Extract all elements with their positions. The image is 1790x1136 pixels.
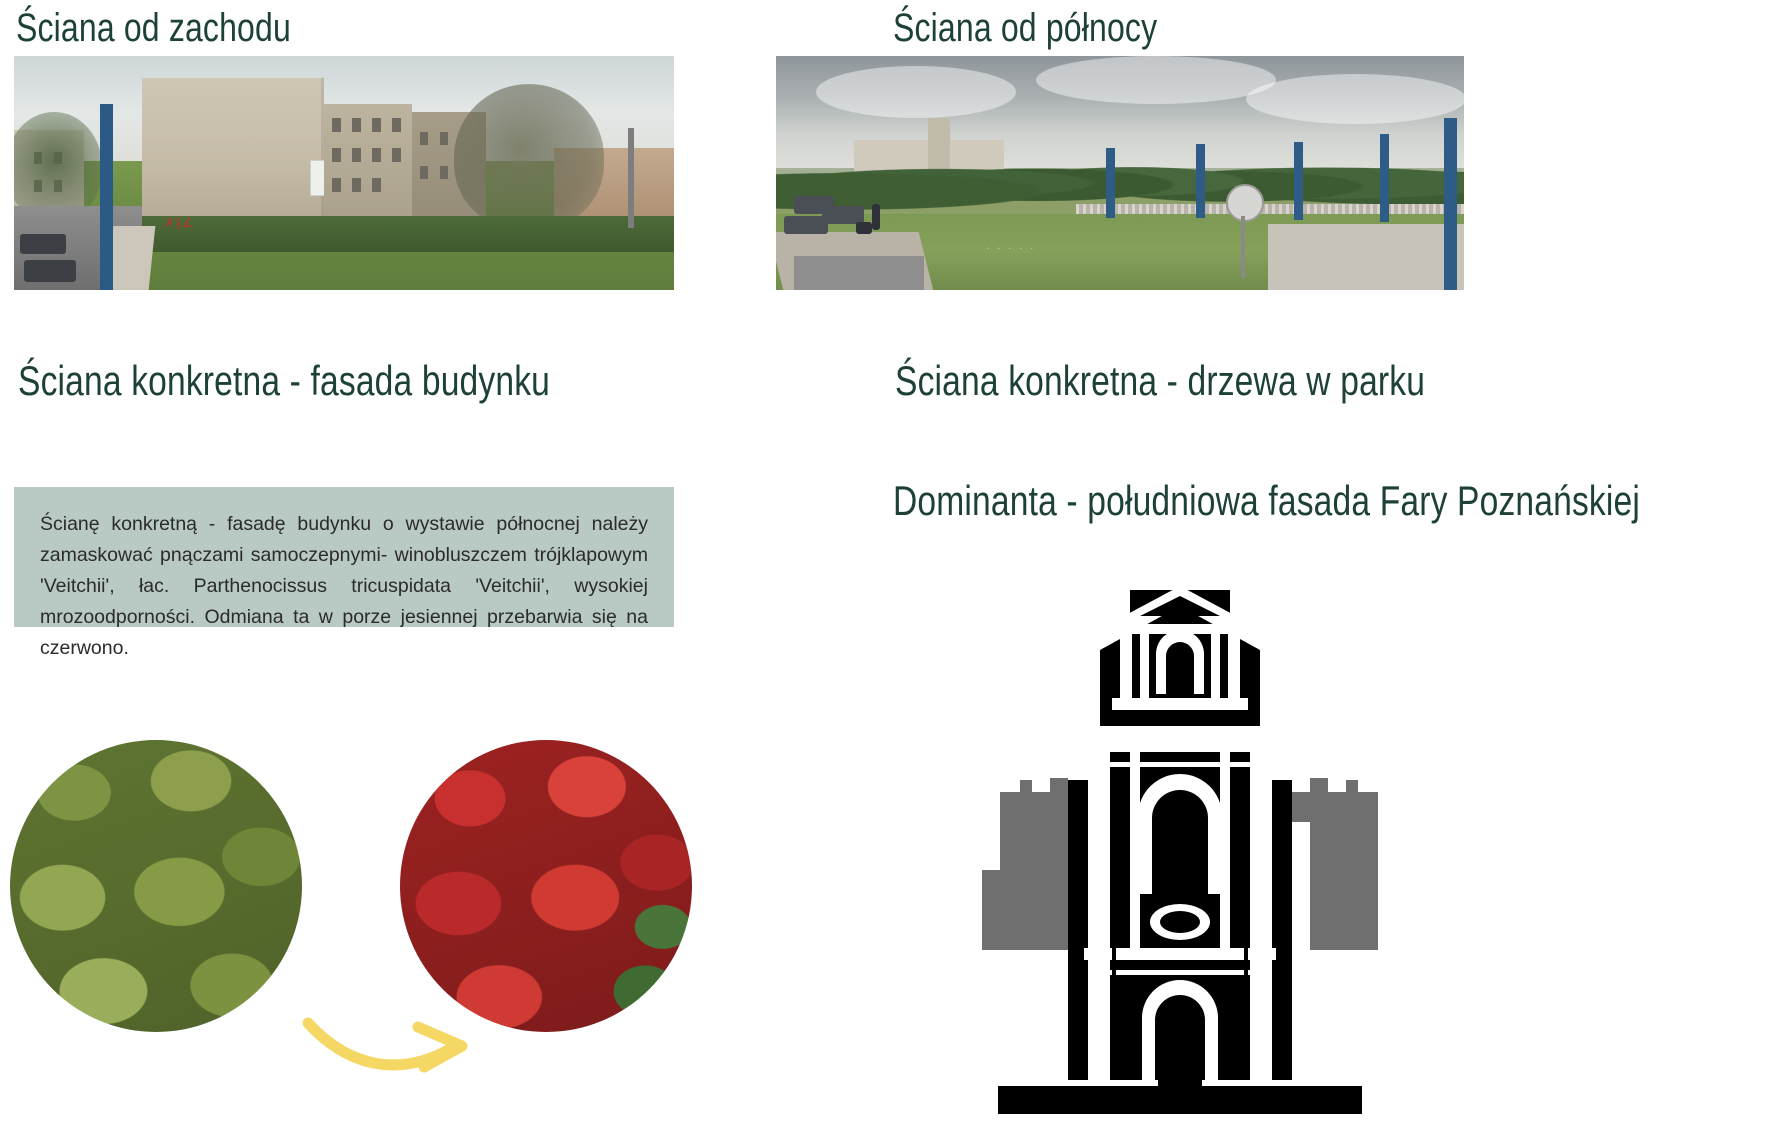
graffiti-tag: ✗∤∠ [164,216,210,232]
fara-poznanska-facade [980,530,1380,1130]
poster-page: Ściana od zachodu [0,0,1790,1136]
window [372,178,381,192]
curved-arrow-icon [300,1005,480,1085]
window [440,132,448,145]
sidewalk [107,226,156,290]
window [352,148,361,162]
parked-car [20,234,66,254]
blue-lamp-post [1196,144,1205,218]
window [372,148,381,162]
pavement-right [1268,224,1464,290]
window [332,148,341,162]
round-road-sign [1226,184,1264,222]
blue-lamp-post [1294,142,1303,220]
caption-west-wall: Ściana konkretna - fasada budynku [18,357,550,405]
window [392,148,401,162]
pedestrian-with-pram [856,222,872,234]
leaf-photo-green [10,740,302,1032]
page-title-north: Ściana od północy [893,6,1157,51]
photo-watermark: · · · · · [986,242,1035,255]
west-wall-photo: ✗∤∠ [14,56,674,290]
cloud [1246,74,1464,124]
window [352,118,361,132]
sign-post [1241,216,1245,278]
heading-dominant: Dominanta - południowa fasada Fary Pozna… [893,477,1640,525]
window [420,166,428,179]
blue-lamp-post [1444,118,1457,290]
page-title-west: Ściana od zachodu [16,6,291,51]
window [420,132,428,145]
window [352,178,361,192]
caption-north-wall: Ściana konkretna - drzewa w parku [895,357,1425,405]
description-panel: Ścianę konkretną - fasadę budynku o wyst… [14,487,674,627]
blue-lamp-post [1380,134,1389,222]
north-wall-photo: · · · · · [776,56,1464,290]
cloud [1036,56,1276,104]
building-main-blank-wall [142,78,324,226]
window [372,118,381,132]
blue-lamp-post [1106,148,1115,218]
parked-car [24,260,76,282]
parked-car [784,216,828,234]
window [332,178,341,192]
road-left [794,256,924,290]
leaf-photo-red [400,740,692,1032]
blue-lamp-post [100,104,113,290]
tree-left [14,112,102,220]
window [440,166,448,179]
window [392,118,401,132]
cloud [816,66,1016,118]
pedestrian [872,204,880,230]
park-fence [1076,204,1464,214]
description-text: Ścianę konkretną - fasadę budynku o wyst… [14,487,674,664]
street-lamp [628,128,634,228]
window [332,118,341,132]
bare-tree [454,84,604,230]
